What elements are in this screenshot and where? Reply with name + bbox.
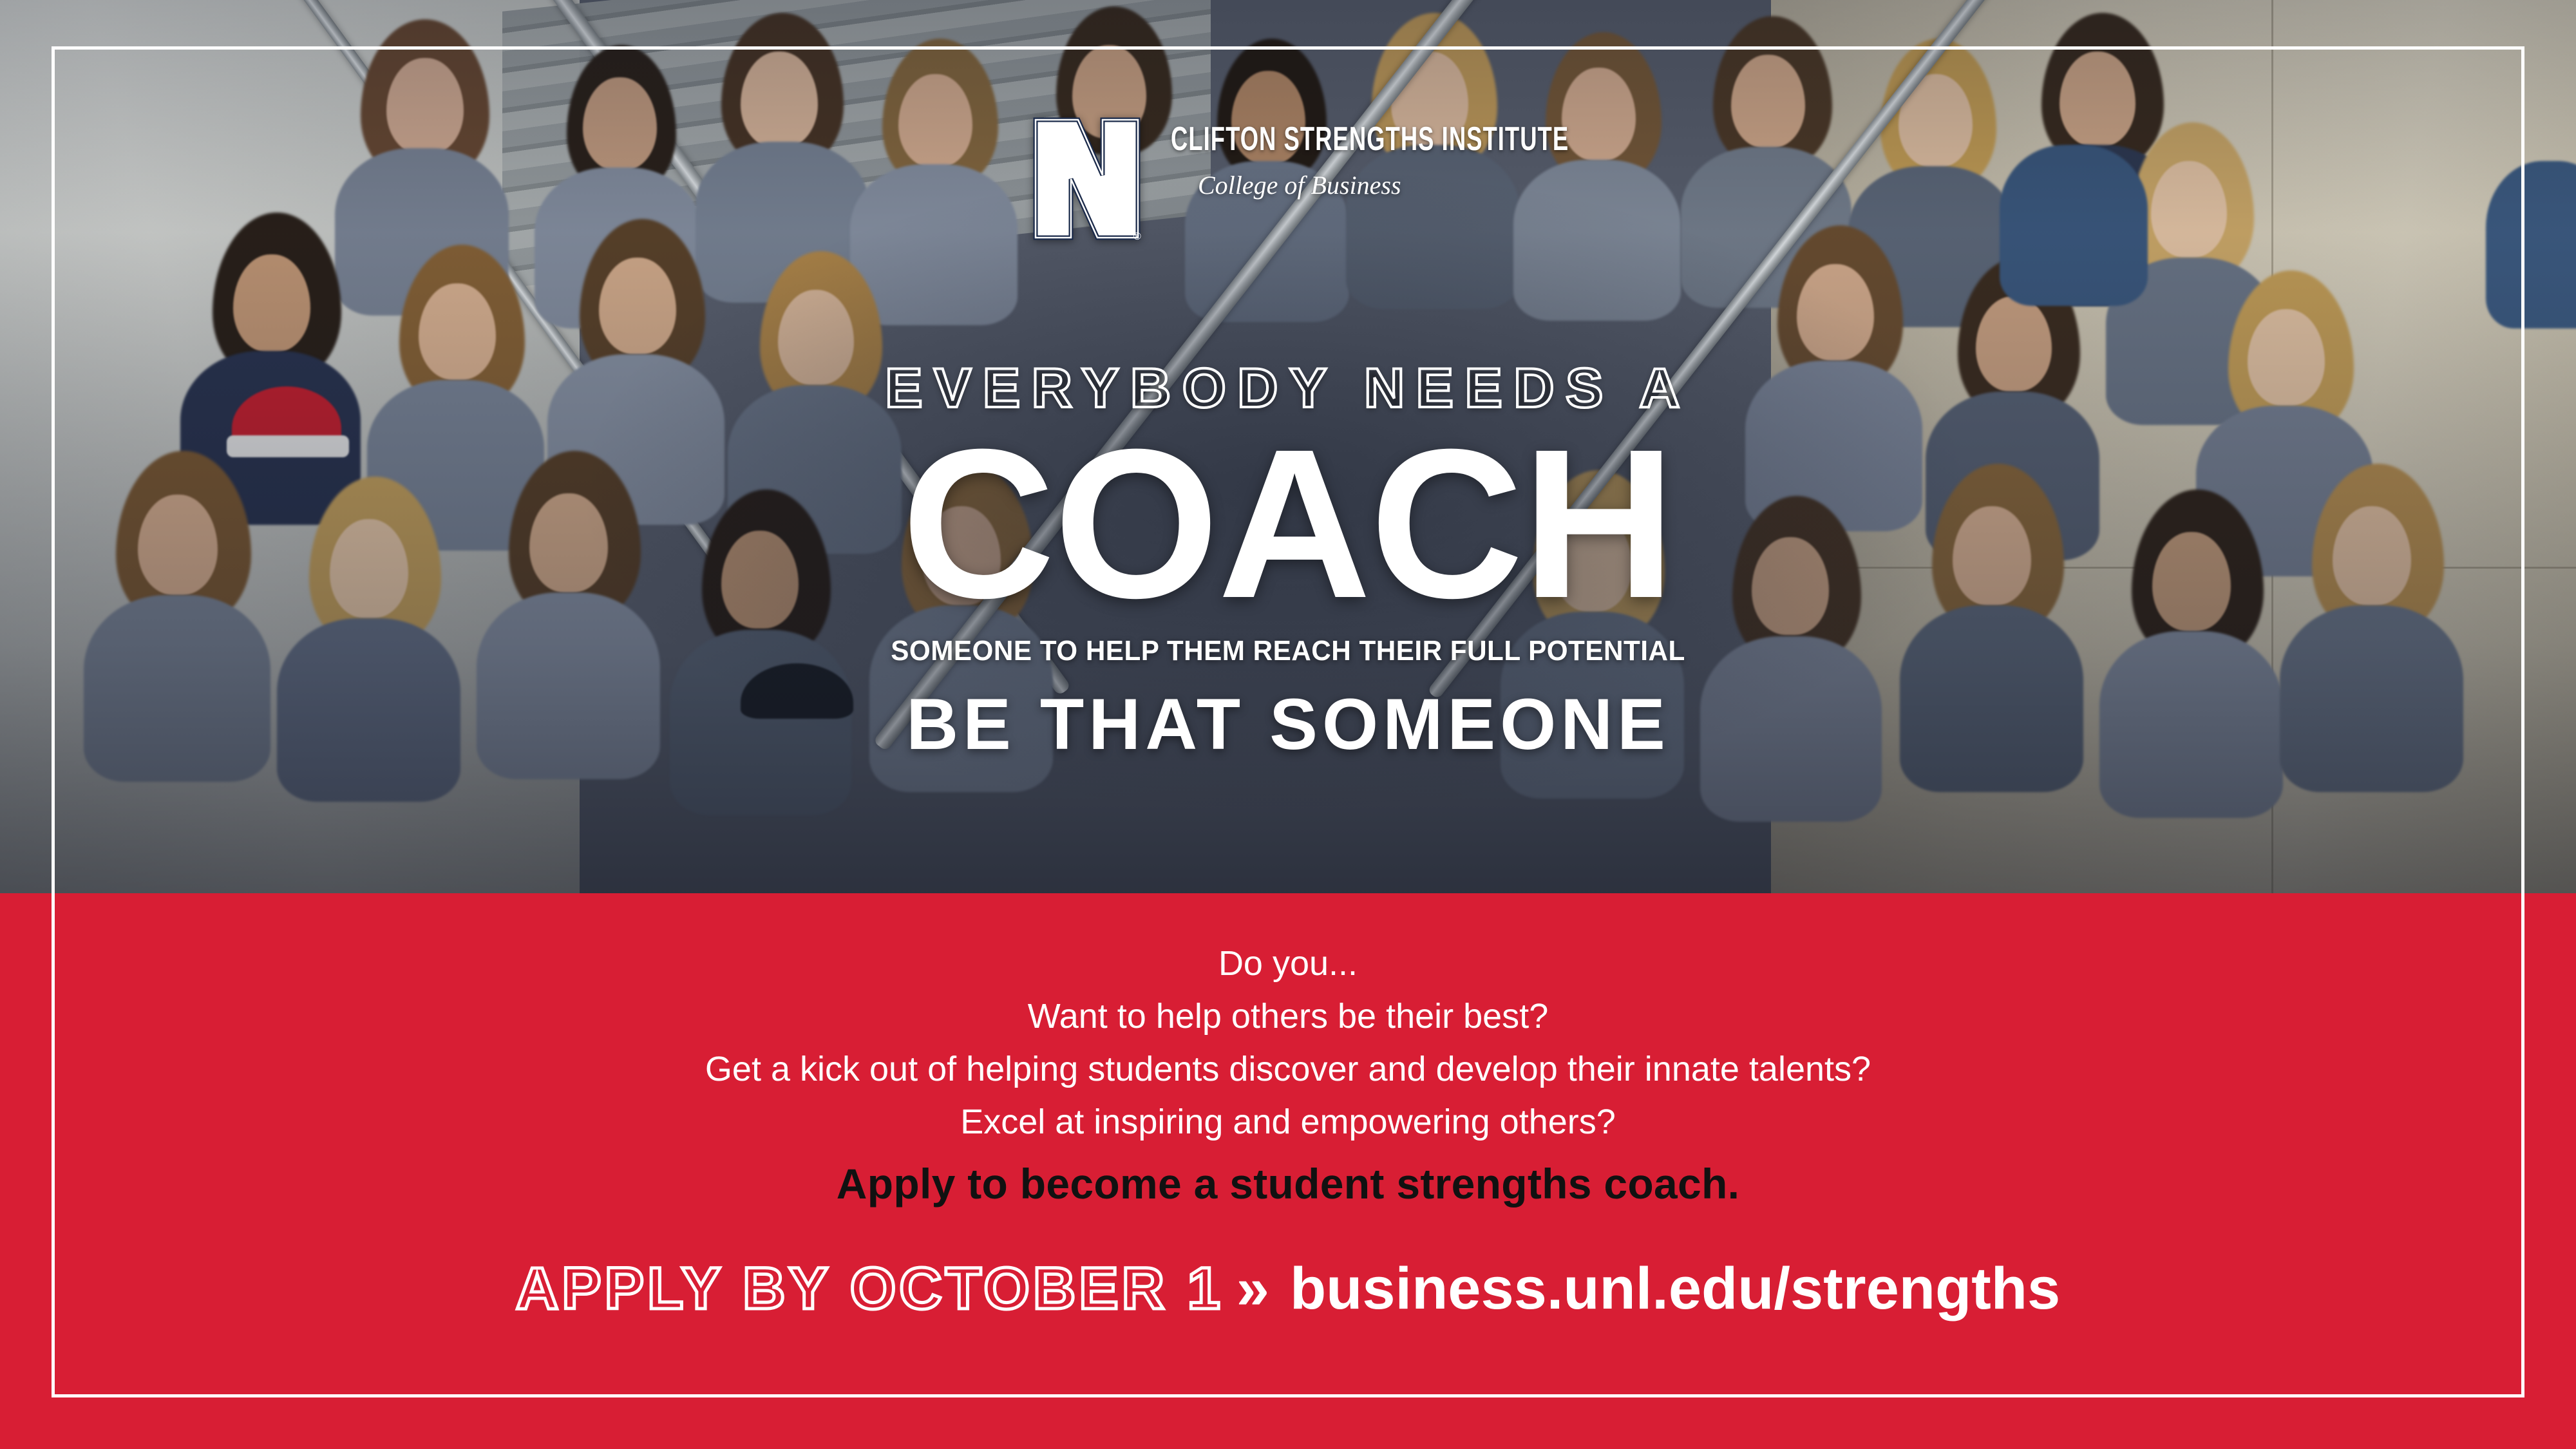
hero-tagline: BE THAT SOMEONE (0, 688, 2576, 761)
hero-eyebrow: EVERYBODY NEEDS A (0, 361, 2576, 416)
nebraska-n-icon: ® (1030, 116, 1143, 241)
hero-headline: COACH (0, 425, 2576, 623)
svg-text:®: ® (1133, 231, 1141, 241)
brand-lockup: ® CLIFTON STRENGTHS INSTITUTE College of… (1030, 116, 1558, 238)
question-line: Excel at inspiring and empowering others… (0, 1095, 2576, 1148)
chevron-right-icon: » (1236, 1259, 1269, 1318)
college-name: College of Business (1198, 173, 1739, 198)
question-list: Do you... Want to help others be their b… (0, 937, 2576, 1148)
cta-row: APPLY BY OCTOBER 1»business.unl.edu/stre… (0, 1259, 2576, 1318)
hero-headlines: EVERYBODY NEEDS A COACH SOMEONE TO HELP … (0, 361, 2576, 761)
question-line: Do you... (0, 937, 2576, 990)
question-line: Get a kick out of helping students disco… (0, 1043, 2576, 1095)
hero-subline: SOMEONE TO HELP THEM REACH THEIR FULL PO… (52, 637, 2524, 665)
apply-statement: Apply to become a student strengths coac… (0, 1159, 2576, 1208)
institute-name: CLIFTON STRENGTHS INSTITUTE (1171, 122, 1569, 156)
cta-deadline: APPLY BY OCTOBER 1 (516, 1259, 1224, 1318)
question-line: Want to help others be their best? (0, 990, 2576, 1043)
poster: ® CLIFTON STRENGTHS INSTITUTE College of… (0, 0, 2576, 1449)
cta-url[interactable]: business.unl.edu/strengths (1290, 1259, 2060, 1318)
hero-photo: ® CLIFTON STRENGTHS INSTITUTE College of… (0, 0, 2576, 893)
